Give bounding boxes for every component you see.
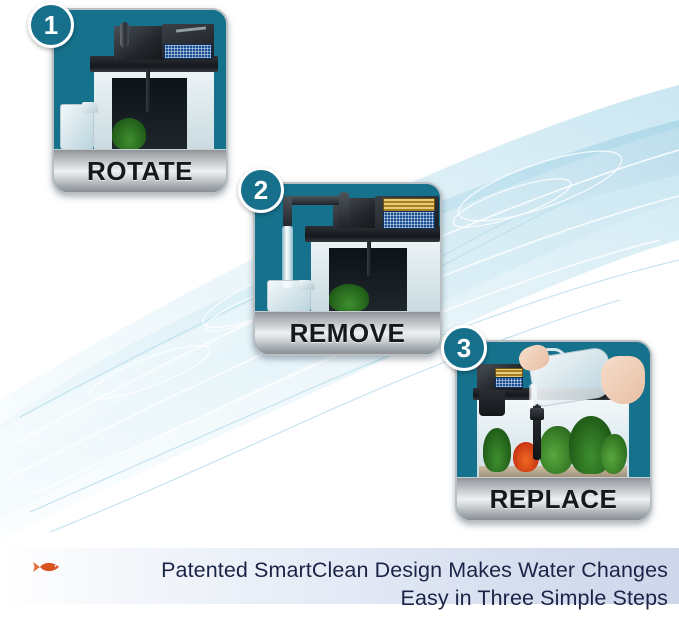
step-3-label-bar: REPLACE	[457, 477, 650, 520]
step-3-photo	[457, 342, 650, 478]
step-badge-1-number: 1	[44, 10, 58, 41]
drain-tube	[367, 240, 371, 276]
step-1-photo	[54, 10, 226, 150]
filter-downspout	[479, 390, 505, 416]
infographic-root: ROTATE 1	[0, 0, 679, 621]
step-panel-replace[interactable]: REPLACE	[455, 340, 652, 522]
drain-spout-riser	[339, 192, 349, 228]
step-badge-3: 3	[441, 325, 487, 371]
step-panel-rotate[interactable]: ROTATE	[52, 8, 228, 194]
hand-right	[601, 356, 645, 404]
heater-collar	[530, 408, 544, 420]
drain-spout-arm	[285, 196, 345, 205]
step-2-label-text: REMOVE	[290, 318, 406, 349]
step-3-label-text: REPLACE	[490, 484, 618, 515]
filter-cartridge-mesh	[383, 211, 435, 229]
fish-icon	[32, 559, 62, 575]
tank-plant	[329, 284, 369, 312]
step-badge-3-number: 3	[457, 333, 471, 364]
rotate-knob	[120, 22, 129, 48]
step-1-label-text: ROTATE	[87, 156, 193, 187]
caption-text: Patented SmartClean Design Makes Water C…	[68, 556, 668, 612]
tank-plant	[112, 118, 146, 150]
tank-plant-left	[483, 428, 511, 472]
step-badge-2: 2	[238, 167, 284, 213]
step-2-photo	[255, 184, 440, 312]
cup-spout	[82, 102, 98, 113]
caption-line-1: Patented SmartClean Design Makes Water C…	[68, 556, 668, 584]
tank-plant-far-right	[601, 434, 627, 474]
water-stream	[282, 226, 293, 288]
step-panel-remove[interactable]: REMOVE	[253, 182, 442, 356]
step-badge-1: 1	[28, 2, 74, 48]
pour-stream	[529, 384, 537, 406]
filter-cartridge-mesh	[495, 377, 523, 388]
step-2-label-bar: REMOVE	[255, 311, 440, 354]
filter-cartridge-mesh	[164, 44, 212, 59]
step-badge-2-number: 2	[254, 175, 268, 206]
drain-tube	[146, 70, 150, 112]
drain-spout-elbow	[283, 196, 292, 228]
caption-line-2: Easy in Three Simple Steps	[68, 584, 668, 612]
step-1-label-bar: ROTATE	[54, 149, 226, 192]
pitcher-spout	[299, 280, 315, 290]
